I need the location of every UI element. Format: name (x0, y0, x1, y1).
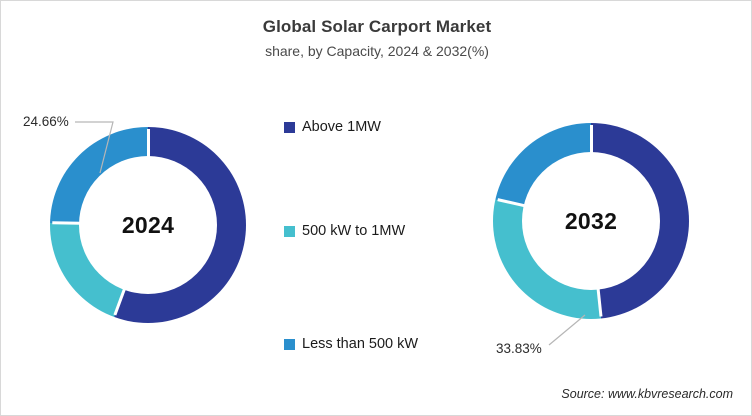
data-label-2032: 33.83% (496, 341, 542, 356)
chart-subtitle: share, by Capacity, 2024 & 2032(%) (1, 43, 752, 59)
legend-swatch-icon (284, 226, 295, 237)
slice-separator (590, 125, 593, 153)
donut-year-label-2032: 2032 (565, 208, 617, 235)
legend-item-500kw-to-1mw[interactable]: 500 kW to 1MW (284, 223, 405, 239)
legend-label: 500 kW to 1MW (302, 223, 405, 239)
donut-chart-2032: 2032 (493, 123, 689, 319)
chart-title: Global Solar Carport Market (1, 17, 752, 37)
leader-line-2032 (541, 313, 591, 351)
leader-line-2024 (73, 117, 129, 185)
legend-label: Less than 500 kW (302, 336, 418, 352)
legend-swatch-icon (284, 122, 295, 133)
donut-center-2032: 2032 (522, 152, 660, 290)
data-label-2024: 24.66% (23, 114, 69, 129)
source-attribution: Source: www.kbvresearch.com (561, 387, 733, 401)
chart-canvas: Global Solar Carport Market share, by Ca… (0, 0, 752, 416)
legend-item-less-than-500kw[interactable]: Less than 500 kW (284, 336, 418, 352)
legend-label: Above 1MW (302, 119, 381, 135)
slice-separator (147, 129, 150, 157)
legend-swatch-icon (284, 339, 295, 350)
legend-item-above-1mw[interactable]: Above 1MW (284, 119, 381, 135)
donut-year-label-2024: 2024 (122, 212, 174, 239)
